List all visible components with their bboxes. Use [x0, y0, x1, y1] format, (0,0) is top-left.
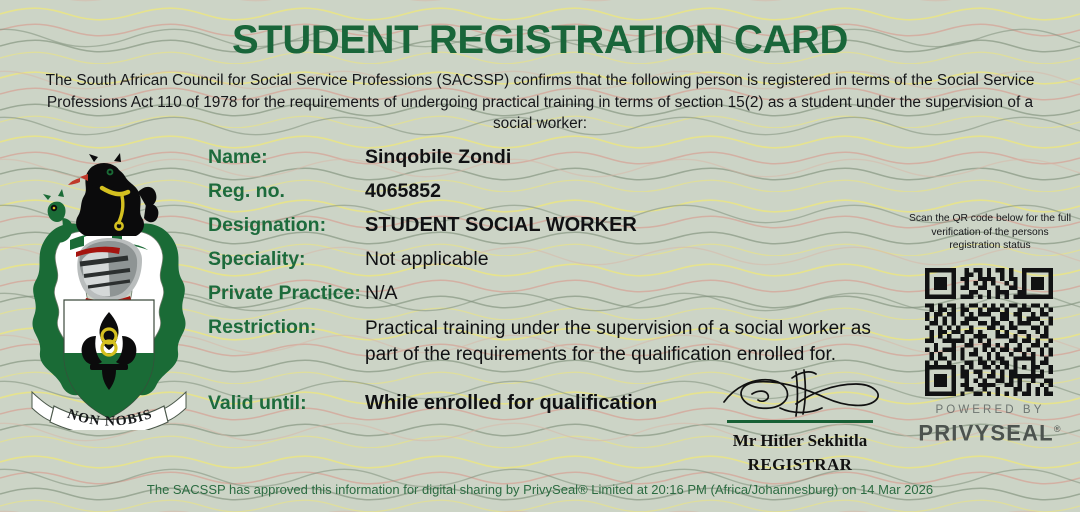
field-value-speciality: Not applicable [365, 248, 489, 271]
field-value-private-practice: N/A [365, 282, 398, 305]
field-label-private-practice: Private Practice: [208, 282, 361, 305]
field-label-reg-no: Reg. no. [208, 180, 285, 203]
field-value-designation: STUDENT SOCIAL WORKER [365, 214, 637, 237]
student-registration-card: STUDENT REGISTRATION CARD The South Afri… [0, 0, 1080, 512]
approval-footer: The SACSSP has approved this information… [0, 482, 1080, 497]
field-label-name: Name: [208, 146, 268, 169]
qr-code-icon[interactable] [919, 268, 1059, 396]
field-value-reg-no: 4065852 [365, 180, 441, 203]
field-label-designation: Designation: [208, 214, 326, 237]
field-row-reg-no: Reg. no. 4065852 [208, 180, 908, 214]
field-value-restriction: Practical training under the supervision… [365, 316, 905, 368]
field-row-designation: Designation: STUDENT SOCIAL WORKER [208, 214, 908, 248]
privyseal-brand: POWERED BY PRIVYSEAL® [905, 404, 1075, 446]
field-row-name: Name: Sinqobile Zondi [208, 146, 908, 180]
handwritten-signature-icon [700, 368, 900, 420]
field-row-private-practice: Private Practice: N/A [208, 282, 908, 316]
privyseal-text: PRIVYSEAL [918, 420, 1054, 445]
signature-rule [727, 420, 873, 423]
privyseal-wordmark: PRIVYSEAL® [905, 416, 1075, 446]
registrar-name: Mr Hitler Sekhitla [700, 431, 900, 451]
qr-instruction-text: Scan the QR code below for the full veri… [905, 212, 1075, 253]
field-value-name: Sinqobile Zondi [365, 146, 511, 169]
field-value-valid-until: While enrolled for qualification [365, 392, 657, 415]
field-row-speciality: Speciality: Not applicable [208, 248, 908, 282]
field-label-valid-until: Valid until: [208, 392, 307, 415]
powered-by-label: POWERED BY [905, 404, 1075, 416]
intro-paragraph: The South African Council for Social Ser… [30, 70, 1050, 135]
registrar-role: REGISTRAR [700, 455, 900, 475]
signature-block: Mr Hitler Sekhitla REGISTRAR [700, 368, 900, 475]
registered-mark: ® [1054, 424, 1062, 434]
coat-of-arms-icon: NON NOBIS [18, 140, 200, 430]
field-label-speciality: Speciality: [208, 248, 306, 271]
page-title: STUDENT REGISTRATION CARD [0, 18, 1080, 63]
field-label-restriction: Restriction: [208, 316, 316, 339]
